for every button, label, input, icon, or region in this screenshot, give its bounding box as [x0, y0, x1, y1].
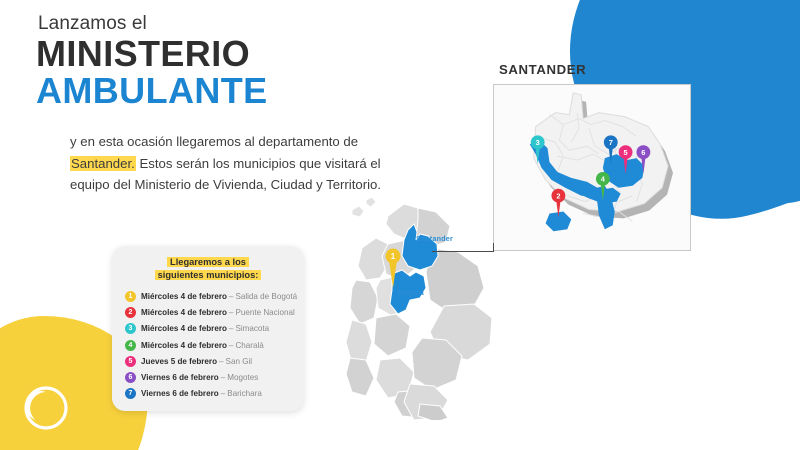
headline-block: Lanzamos el MINISTERIO AMBULANTE: [36, 14, 268, 109]
legend-marker-4: 4: [125, 340, 136, 351]
colombia-map-label-santander: Santander: [416, 234, 453, 243]
legend-card: Llegaremos a los siguientes municipios: …: [112, 246, 304, 411]
legend-item-separator: –: [229, 324, 234, 333]
legend-title-line-2: siguientes municipios:: [155, 270, 262, 280]
map-to-inset-connector-riser: [493, 243, 494, 252]
legend-item-separator: –: [219, 357, 224, 366]
legend-item-place: Salida de Bogotá: [235, 292, 297, 301]
inset-pin-label: 7: [609, 138, 613, 147]
legend-item-place: Barichara: [227, 389, 262, 398]
legend-marker-3: 3: [125, 323, 136, 334]
headline-line-2: AMBULANTE: [36, 73, 268, 110]
body-highlight-santander: Santander.: [70, 156, 136, 171]
legend-item-place: Puente Nacional: [235, 308, 294, 317]
body-text-part-1: y en esta ocasión llegaremos al departam…: [70, 134, 358, 149]
legend-item: 3Miércoles 4 de febrero–Simacota: [125, 323, 293, 334]
inset-pin-label: 5: [624, 148, 628, 157]
legend-item-date: Miércoles 4 de febrero: [141, 308, 227, 317]
legend-item-list: 1Miércoles 4 de febrero–Salida de Bogotá…: [123, 291, 293, 399]
svg-text:1: 1: [391, 252, 396, 261]
legend-item-place: San Gil: [226, 357, 253, 366]
legend-item-date: Miércoles 4 de febrero: [141, 341, 227, 350]
legend-item-separator: –: [229, 292, 234, 301]
legend-item-date: Viernes 6 de febrero: [141, 373, 219, 382]
slide-canvas: Lanzamos el MINISTERIO AMBULANTE y en es…: [0, 0, 800, 450]
legend-item-place: Charalá: [235, 341, 263, 350]
legend-marker-7: 7: [125, 388, 136, 399]
inset-pin-label: 2: [556, 191, 560, 200]
legend-marker-1: 1: [125, 291, 136, 302]
legend-item-date: Viernes 6 de febrero: [141, 389, 219, 398]
legend-marker-2: 2: [125, 307, 136, 318]
legend-item: 2Miércoles 4 de febrero–Puente Nacional: [125, 307, 293, 318]
legend-item-place: Mogotes: [227, 373, 258, 382]
legend-item-separator: –: [229, 308, 234, 317]
legend-marker-5: 5: [125, 356, 136, 367]
legend-item: 7Viernes 6 de febrero–Barichara: [125, 388, 293, 399]
legend-item-date: Jueves 5 de febrero: [141, 357, 217, 366]
body-paragraph: y en esta ocasión llegaremos al departam…: [70, 131, 400, 195]
legend-item: 1Miércoles 4 de febrero–Salida de Bogotá: [125, 291, 293, 302]
legend-item-separator: –: [229, 341, 234, 350]
legend-title-line-1: Llegaremos a los: [167, 257, 249, 267]
inset-title: SANTANDER: [499, 62, 586, 77]
legend-item-date: Miércoles 4 de febrero: [141, 292, 227, 301]
colombia-map: 1 Santander Bogotá: [336, 188, 506, 420]
santander-inset-map: 375642: [493, 84, 691, 251]
legend-title: Llegaremos a los siguientes municipios:: [123, 256, 293, 283]
colombia-map-label-bogota: Bogotá: [398, 288, 424, 297]
legend-item-date: Miércoles 4 de febrero: [141, 324, 227, 333]
brand-ring-logo: [22, 384, 70, 432]
legend-marker-6: 6: [125, 372, 136, 383]
inset-pin-label: 3: [536, 138, 540, 147]
legend-item: 4Miércoles 4 de febrero–Charalá: [125, 340, 293, 351]
headline-line-1: MINISTERIO: [36, 36, 268, 73]
legend-item: 5Jueves 5 de febrero–San Gil: [125, 356, 293, 367]
legend-item-separator: –: [221, 389, 226, 398]
legend-item-separator: –: [221, 373, 226, 382]
legend-item: 6Viernes 6 de febrero–Mogotes: [125, 372, 293, 383]
headline-kicker: Lanzamos el: [38, 14, 268, 35]
legend-item-place: Simacota: [235, 324, 269, 333]
map-to-inset-connector: [432, 251, 494, 252]
inset-pin-label: 6: [641, 148, 645, 157]
